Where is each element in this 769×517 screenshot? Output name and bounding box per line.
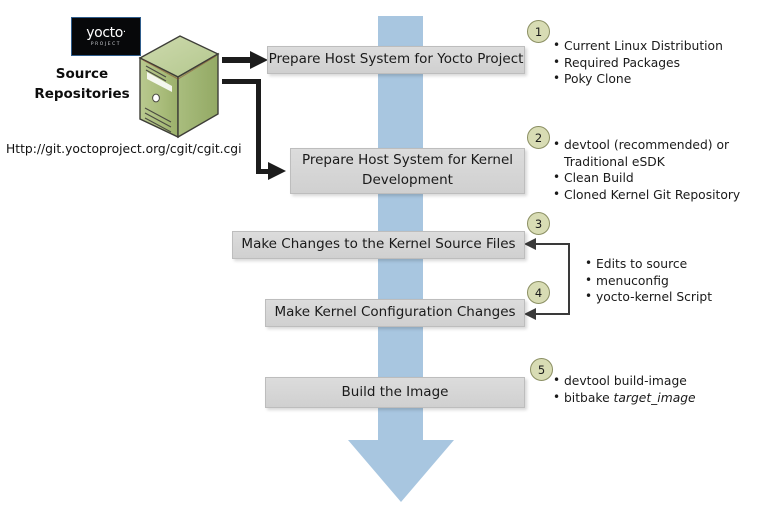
step-number-text: 5 (538, 363, 545, 377)
source-label-line1: Source (24, 64, 140, 84)
note-item: Edits to source (596, 256, 712, 273)
bracket-vertical-line (568, 243, 570, 314)
step-box-label: Prepare Host System for Yocto Project (269, 50, 524, 70)
step-box-label: Make Kernel Configuration Changes (274, 303, 515, 323)
connector-server-to-step2-line-v (256, 79, 261, 174)
note-item: Required Packages (564, 55, 723, 72)
note-item: Poky Clone (564, 71, 723, 88)
step-number-badge-4: 4 (527, 281, 550, 304)
step-number-text: 1 (535, 25, 542, 39)
step-box-prepare-host-yocto[interactable]: Prepare Host System for Yocto Project (267, 46, 525, 74)
connector-server-to-step1-line (222, 57, 252, 63)
connector-server-to-step2-arrowhead-icon (268, 162, 286, 180)
bracket-step3-arrowhead-icon (524, 238, 536, 250)
step-box-label: Prepare Host System for Kernel Developme… (291, 151, 524, 190)
bracket-step3-line (535, 243, 570, 245)
step-box-label: Make Changes to the Kernel Source Files (241, 235, 515, 255)
step-number-badge-1: 1 (527, 20, 550, 43)
step-number-badge-2: 2 (527, 126, 550, 149)
note-item: devtool build-image (564, 373, 696, 390)
note-item: devtool (recommended) or (564, 137, 740, 154)
source-repository-url: Http://git.yoctoproject.org/cgit/cgit.cg… (6, 142, 242, 156)
source-label-line2: Repositories (24, 84, 140, 104)
yocto-logo-wordmark: yocto· (86, 26, 125, 40)
bracket-step4-line (535, 313, 570, 315)
step2-notes-list: devtool (recommended) or Traditional eSD… (551, 137, 740, 203)
flow-arrowhead-icon (348, 440, 454, 502)
step-number-text: 3 (535, 217, 542, 231)
step-number-badge-3: 3 (527, 212, 550, 235)
server-tower-icon (134, 34, 220, 140)
step-box-prepare-host-kernel[interactable]: Prepare Host System for Kernel Developme… (290, 148, 525, 194)
step-number-badge-5: 5 (530, 358, 553, 381)
yocto-logo-word-text: yocto (86, 25, 123, 41)
note-item: Cloned Kernel Git Repository (564, 187, 740, 204)
note-item: bitbake target_image (564, 390, 696, 407)
diagram-canvas: yocto· PROJECT Source Repositories Http:… (0, 0, 769, 517)
step-number-text: 4 (535, 286, 542, 300)
step1-notes-list: Current Linux Distribution Required Pack… (551, 38, 723, 88)
step-box-label: Build the Image (342, 383, 449, 403)
step-box-build-image[interactable]: Build the Image (265, 377, 525, 408)
note-item: yocto-kernel Script (596, 289, 712, 306)
note-item-text: bitbake (564, 391, 614, 405)
yocto-logo-subtext: PROJECT (91, 42, 121, 47)
note-item-continuation: Traditional eSDK (564, 154, 740, 171)
yocto-project-logo: yocto· PROJECT (71, 17, 141, 56)
note-item: Clean Build (564, 170, 740, 187)
connector-server-to-step1-arrowhead-icon (250, 51, 268, 69)
bracket-step4-arrowhead-icon (524, 308, 536, 320)
note-item-emphasis: target_image (614, 391, 696, 405)
step-number-text: 2 (535, 131, 542, 145)
step5-notes-list: devtool build-image bitbake target_image (551, 373, 696, 406)
step-box-make-config-changes[interactable]: Make Kernel Configuration Changes (265, 299, 525, 327)
note-item: menuconfig (596, 273, 712, 290)
note-item: Current Linux Distribution (564, 38, 723, 55)
step3-step4-shared-notes-list: Edits to source menuconfig yocto-kernel … (583, 256, 712, 306)
yocto-logo-dot: · (123, 27, 126, 38)
source-repositories-label: Source Repositories (24, 64, 140, 104)
step-box-make-source-changes[interactable]: Make Changes to the Kernel Source Files (232, 231, 525, 259)
